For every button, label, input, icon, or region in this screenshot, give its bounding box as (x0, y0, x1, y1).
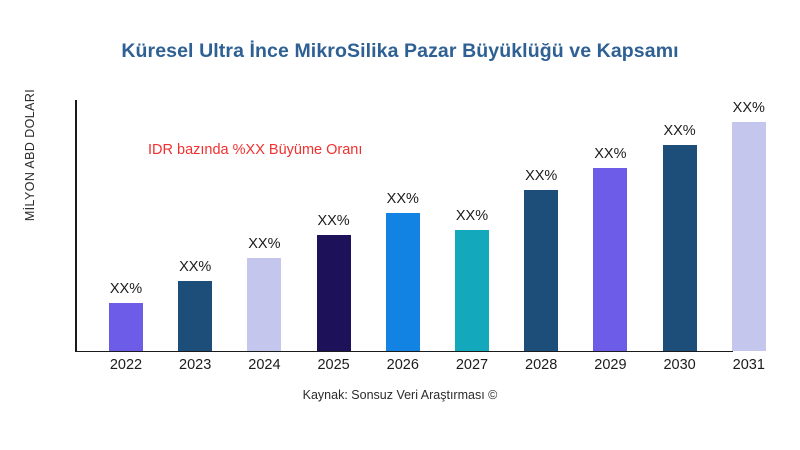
bar-group: XX% (732, 122, 766, 351)
bar (386, 213, 420, 351)
bar (109, 303, 143, 351)
bar-value-label: XX% (663, 123, 695, 139)
bar (524, 190, 558, 351)
bar-group: XX% (593, 168, 627, 351)
bar-value-label: XX% (733, 100, 765, 116)
bar-value-label: XX% (525, 168, 557, 184)
bar-group: XX% (663, 145, 697, 351)
bar-group: XX% (247, 258, 281, 351)
chart-container: Küresel Ultra İnce MikroSilika Pazar Büy… (0, 0, 800, 450)
x-tick-label: 2023 (155, 357, 235, 373)
bar-group: XX% (178, 281, 212, 351)
x-tick-label: 2022 (86, 357, 166, 373)
bar (663, 145, 697, 351)
bar (317, 235, 351, 351)
bar (732, 122, 766, 351)
x-tick-label: 2026 (363, 357, 443, 373)
bar-value-label: XX% (387, 191, 419, 207)
bar-value-label: XX% (248, 236, 280, 252)
x-tick-label: 2029 (570, 357, 650, 373)
bar-group: XX% (317, 235, 351, 351)
x-tick-label: 2031 (709, 357, 789, 373)
bar-value-label: XX% (317, 213, 349, 229)
bar (455, 230, 489, 351)
bar (178, 281, 212, 351)
bar-value-label: XX% (594, 146, 626, 162)
x-tick-label: 2028 (501, 357, 581, 373)
bar (247, 258, 281, 351)
bar-group: XX% (109, 303, 143, 351)
source-note: Kaynak: Sonsuz Veri Araştırması © (0, 388, 800, 402)
bar-value-label: XX% (179, 259, 211, 275)
x-tick-label: 2030 (640, 357, 720, 373)
x-tick-label: 2024 (224, 357, 304, 373)
bar-value-label: XX% (110, 281, 142, 297)
bar-group: XX% (386, 213, 420, 351)
bar (593, 168, 627, 351)
x-tick-label: 2025 (294, 357, 374, 373)
bar-group: XX% (524, 190, 558, 351)
bars-layer: XX%XX%XX%XX%XX%XX%XX%XX%XX%XX% (0, 0, 800, 450)
bar-value-label: XX% (456, 208, 488, 224)
bar-group: XX% (455, 230, 489, 351)
x-tick-label: 2027 (432, 357, 512, 373)
